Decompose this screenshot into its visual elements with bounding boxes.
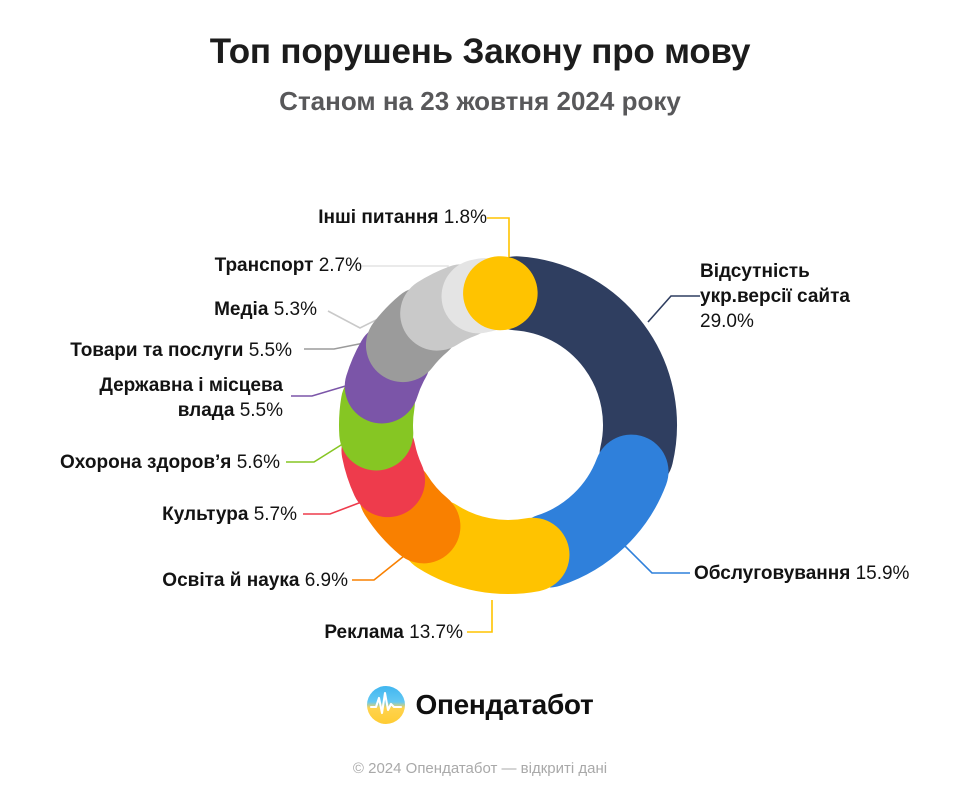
donut-chart: Відсутність укр.версії сайта 29.0% Обслу… (0, 0, 960, 800)
callout-service-value: 15.9% (856, 563, 910, 584)
callout-goods: Товари та послуги 5.5% (70, 338, 292, 363)
callout-other-name: Інші питання (318, 207, 438, 228)
callout-media-value: 5.3% (274, 299, 317, 320)
callout-government-line1: Державна і місцева (99, 375, 283, 396)
callout-site: Відсутність укр.версії сайта 29.0% (700, 259, 950, 334)
opendatabot-logo-icon (367, 686, 405, 724)
callout-education-value: 6.9% (305, 570, 348, 591)
callout-transport-name: Транспорт (215, 255, 314, 276)
leader-line-education (352, 556, 404, 580)
callout-culture-name: Культура (162, 504, 248, 525)
callout-education: Освіта й наука 6.9% (162, 568, 348, 593)
callout-site-value: 29.0% (700, 311, 754, 332)
callout-other-value: 1.8% (444, 207, 487, 228)
brand-logo-text: Опендатабот (416, 689, 594, 721)
pulse-line-icon (367, 686, 405, 724)
leader-line-site (648, 296, 700, 322)
callout-transport: Транспорт 2.7% (215, 253, 362, 278)
callout-health-value: 5.6% (237, 452, 280, 473)
callout-health: Охорона здоров’я 5.6% (60, 450, 280, 475)
donut-slices (376, 293, 640, 557)
callout-government-line2: влада (178, 400, 235, 421)
callout-education-name: Освіта й наука (162, 570, 299, 591)
callout-site-line1: Відсутність (700, 261, 810, 282)
callout-transport-value: 2.7% (319, 255, 362, 276)
copyright-text: © 2024 Опендатабот — відкриті дані (0, 760, 960, 777)
callout-site-line2: укр.версії сайта (700, 286, 850, 307)
callout-health-name: Охорона здоров’я (60, 452, 231, 473)
callout-ads-value: 13.7% (409, 622, 463, 643)
callout-ads-name: Реклама (324, 622, 404, 643)
callout-service: Обслуговування 15.9% (694, 561, 909, 586)
callout-service-name: Обслуговування (694, 563, 850, 584)
callout-government: Державна і місцева влада 5.5% (99, 373, 283, 423)
callout-ads: Реклама 13.7% (324, 620, 463, 645)
infographic-root: Топ порушень Закону про мову Станом на 2… (0, 0, 960, 800)
brand-logo: Опендатабот (0, 686, 960, 724)
leader-line-service (622, 543, 690, 573)
callout-culture-value: 5.7% (254, 504, 297, 525)
callout-goods-name: Товари та послуги (70, 340, 243, 361)
leader-line-ads (467, 600, 492, 632)
callout-culture: Культура 5.7% (162, 502, 297, 527)
slice-0[interactable] (517, 293, 640, 455)
callout-media-name: Медіа (214, 299, 268, 320)
callout-government-value: 5.5% (240, 400, 283, 421)
callout-media: Медіа 5.3% (214, 297, 317, 322)
callout-other: Інші питання 1.8% (318, 205, 487, 230)
callout-goods-value: 5.5% (249, 340, 292, 361)
